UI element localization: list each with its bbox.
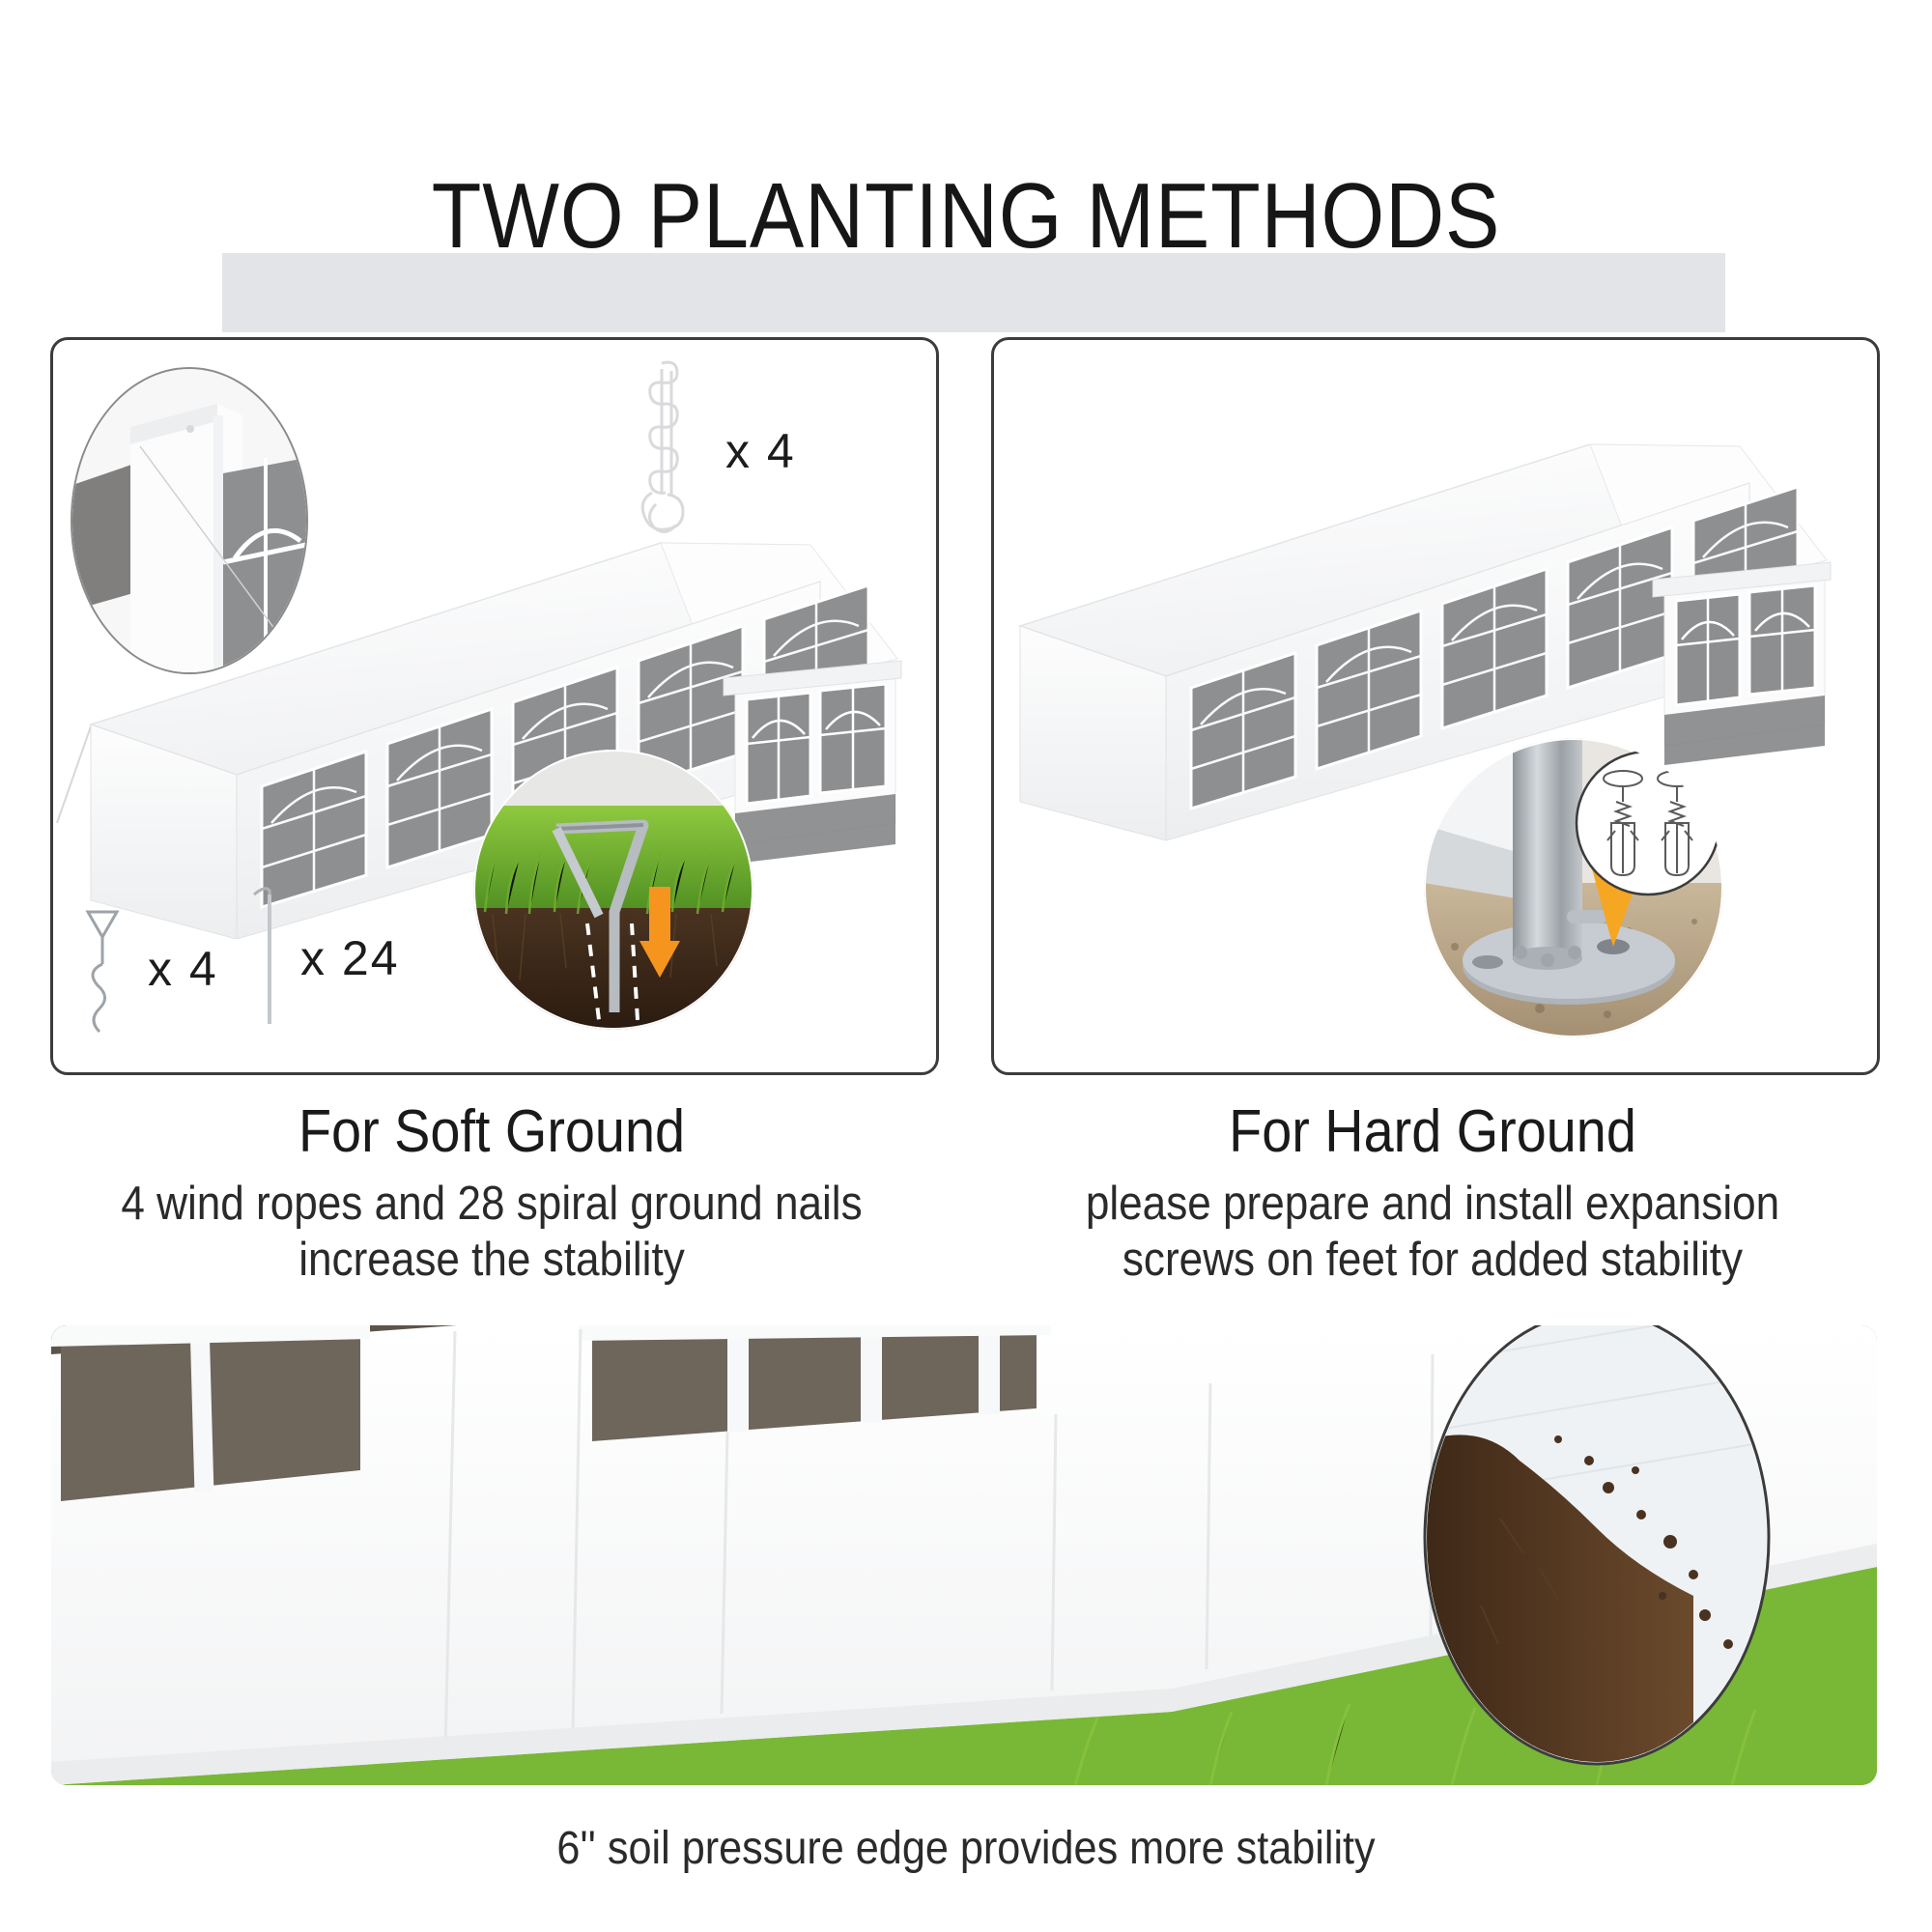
straight-stake-count-label: x 24 [300,934,400,982]
caption-soft-line1: 4 wind ropes and 28 spiral ground nails [95,1176,890,1232]
tent-corner-closeup-art [72,369,306,672]
pole-base-on-concrete-art [1424,738,1723,1037]
caption-hard-line1: please prepare and install expansion [1036,1176,1831,1232]
page-header: TWO PLANTING METHODS [0,77,1932,270]
pole-base-inset [1424,738,1723,1037]
straight-stake-icon [246,877,285,1039]
stake-in-soil-inset [473,750,753,1030]
rope-count-label: x 4 [725,427,796,475]
tent-corner-detail-inset [71,367,308,674]
tent-sidewall-on-grass-art [51,1325,1877,1785]
tent-illustration-hard [991,386,1880,869]
page-title: TWO PLANTING METHODS [116,170,1816,263]
caption-soft-line2: increase the stability [95,1232,890,1288]
spiral-nail-count-label: x 4 [148,945,218,993]
panel-hard-ground [991,337,1880,1075]
part-straight-stake: x 24 [246,877,400,1039]
stake-in-soil-art [473,750,753,1030]
rope-coil-icon [633,350,700,553]
panel-soil-pressure-edge [51,1325,1877,1785]
caption-soil-pressure-edge: 6'' soil pressure edge provides more sta… [97,1821,1835,1877]
caption-soft-heading: For Soft Ground [95,1096,890,1168]
panel-soft-ground: x 4 x 4 x 24 [50,337,939,1075]
part-rope: x 4 [633,350,796,553]
caption-hard-heading: For Hard Ground [1036,1096,1831,1168]
caption-hard-ground: For Hard Ground please prepare and insta… [991,1096,1874,1288]
part-spiral-nail: x 4 [74,896,218,1041]
caption-hard-line2: screws on feet for added stability [1036,1232,1831,1288]
spiral-ground-nail-icon [74,896,130,1041]
caption-soft-ground: For Soft Ground 4 wind ropes and 28 spir… [50,1096,933,1288]
